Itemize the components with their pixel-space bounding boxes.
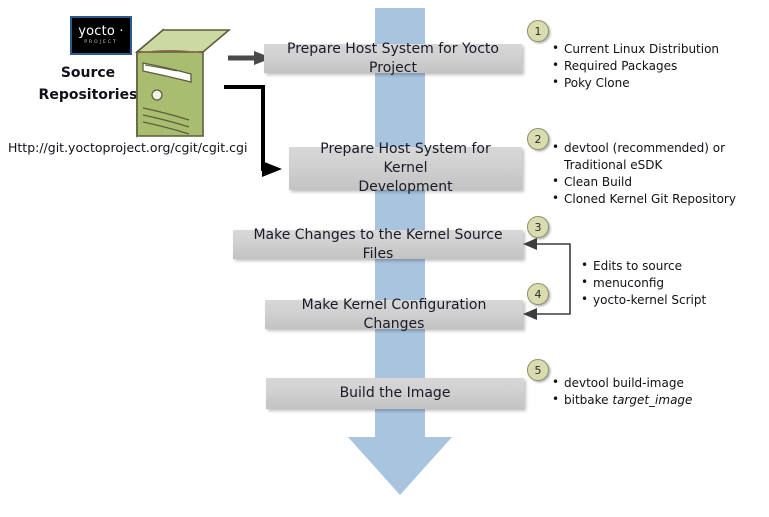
bitbake-command: bitbake [564, 393, 612, 407]
source-label-line-2: Repositories [28, 84, 148, 106]
bullet-list-step-2: devtool (recommended) or Traditional eSD… [551, 140, 736, 208]
list-item: Edits to source [580, 258, 706, 275]
process-box-step-3-label: Make Changes to the Kernel Source Files [243, 226, 513, 264]
step-circle-4: 4 [527, 283, 549, 305]
list-item: menuconfig [580, 275, 706, 292]
list-item: Clean Build [551, 174, 736, 191]
list-item: Cloned Kernel Git Repository [551, 191, 736, 208]
step-number-5: 5 [535, 364, 542, 377]
process-box-step-2[interactable]: Prepare Host System for Kernel Developme… [289, 147, 522, 190]
yocto-project-logo: yocto · PROJECT [70, 16, 132, 55]
bullet-list-step-5: devtool build-image bitbake target_image [551, 375, 692, 409]
process-box-step-2-line-1: Prepare Host System for Kernel [320, 141, 490, 176]
connector-arrow-to-step-2 [222, 85, 284, 177]
list-item: bitbake target_image [551, 392, 692, 409]
flow-arrow-head-icon [348, 437, 452, 495]
diagram-canvas: yocto · PROJECT Source Repositories Http… [0, 0, 769, 517]
process-box-step-3[interactable]: Make Changes to the Kernel Source Files [233, 230, 523, 259]
step-number-2: 2 [535, 133, 542, 146]
step-number-4: 4 [535, 288, 542, 301]
list-item: yocto-kernel Script [580, 292, 706, 309]
source-repository-url: Http://git.yoctoproject.org/cgit/cgit.cg… [8, 140, 247, 155]
process-box-step-4[interactable]: Make Kernel Configuration Changes [265, 300, 523, 329]
list-item-line-1: devtool (recommended) or [564, 141, 725, 155]
list-item: Current Linux Distribution [551, 41, 719, 58]
list-item: devtool (recommended) or Traditional eSD… [551, 140, 736, 174]
logo-subtext: PROJECT [84, 39, 117, 46]
bullet-list-step-1: Current Linux Distribution Required Pack… [551, 41, 719, 92]
step-circle-2: 2 [527, 128, 549, 150]
list-item: devtool build-image [551, 375, 692, 392]
connector-bracket-steps-3-4 [519, 236, 579, 324]
process-box-step-1[interactable]: Prepare Host System for Yocto Project [264, 44, 522, 73]
source-repositories-label: Source Repositories [28, 62, 148, 106]
bitbake-target-param: target_image [612, 393, 692, 407]
step-circle-5: 5 [527, 359, 549, 381]
logo-wordmark: yocto · [78, 25, 124, 38]
process-box-step-1-label: Prepare Host System for Yocto Project [274, 40, 512, 78]
list-item: Required Packages [551, 58, 719, 75]
process-box-step-5[interactable]: Build the Image [266, 378, 524, 409]
step-circle-1: 1 [527, 20, 549, 42]
step-number-1: 1 [535, 25, 542, 38]
process-box-step-2-line-2: Development [358, 179, 452, 195]
source-label-line-1: Source [28, 62, 148, 84]
process-box-step-2-label: Prepare Host System for Kernel Developme… [299, 140, 512, 197]
bullet-list-steps-3-4: Edits to source menuconfig yocto-kernel … [580, 258, 706, 309]
process-box-step-5-label: Build the Image [340, 384, 451, 403]
process-box-step-4-label: Make Kernel Configuration Changes [275, 296, 513, 334]
step-number-3: 3 [535, 221, 542, 234]
list-item: Poky Clone [551, 75, 719, 92]
list-item-line-2: Traditional eSDK [564, 157, 736, 174]
server-icon [133, 26, 235, 138]
step-circle-3: 3 [527, 216, 549, 238]
